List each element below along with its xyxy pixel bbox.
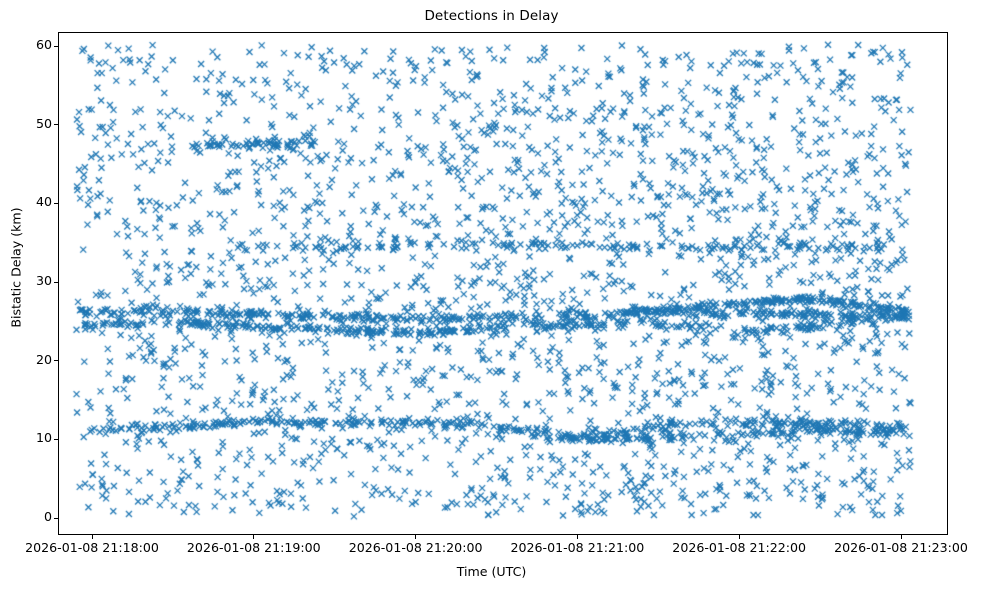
y-tick-mark — [54, 282, 58, 283]
y-tick-label: 30 — [36, 273, 52, 288]
x-tick-label: 2026-01-08 21:23:00 — [834, 540, 968, 555]
scatter-plot-canvas — [58, 32, 948, 535]
y-tick-label: 20 — [36, 352, 52, 367]
x-tick-mark — [577, 535, 578, 539]
y-tick-label: 60 — [36, 37, 52, 52]
y-tick-mark — [54, 439, 58, 440]
y-tick-label: 10 — [36, 430, 52, 445]
x-tick-mark — [253, 535, 254, 539]
x-tick-label: 2026-01-08 21:20:00 — [349, 540, 483, 555]
y-tick-mark — [54, 518, 58, 519]
x-tick-label: 2026-01-08 21:21:00 — [511, 540, 645, 555]
x-tick-mark — [92, 535, 93, 539]
x-axis-label: Time (UTC) — [0, 564, 983, 579]
page-title: Detections in Delay — [0, 8, 983, 24]
y-tick-mark — [54, 360, 58, 361]
y-tick-mark — [54, 46, 58, 47]
x-tick-mark — [415, 535, 416, 539]
x-tick-label: 2026-01-08 21:22:00 — [672, 540, 806, 555]
x-tick-mark — [739, 535, 740, 539]
y-tick-label: 0 — [44, 509, 52, 524]
y-tick-label: 50 — [36, 116, 52, 131]
y-axis-label: Bistatic Delay (km) — [9, 148, 24, 388]
x-tick-label: 2026-01-08 21:19:00 — [187, 540, 321, 555]
y-tick-mark — [54, 203, 58, 204]
y-tick-mark — [54, 124, 58, 125]
x-tick-mark — [901, 535, 902, 539]
y-tick-label: 40 — [36, 194, 52, 209]
x-tick-label: 2026-01-08 21:18:00 — [25, 540, 159, 555]
matplotlib-figure: Detections in Delay 0102030405060 2026-0… — [0, 0, 983, 590]
